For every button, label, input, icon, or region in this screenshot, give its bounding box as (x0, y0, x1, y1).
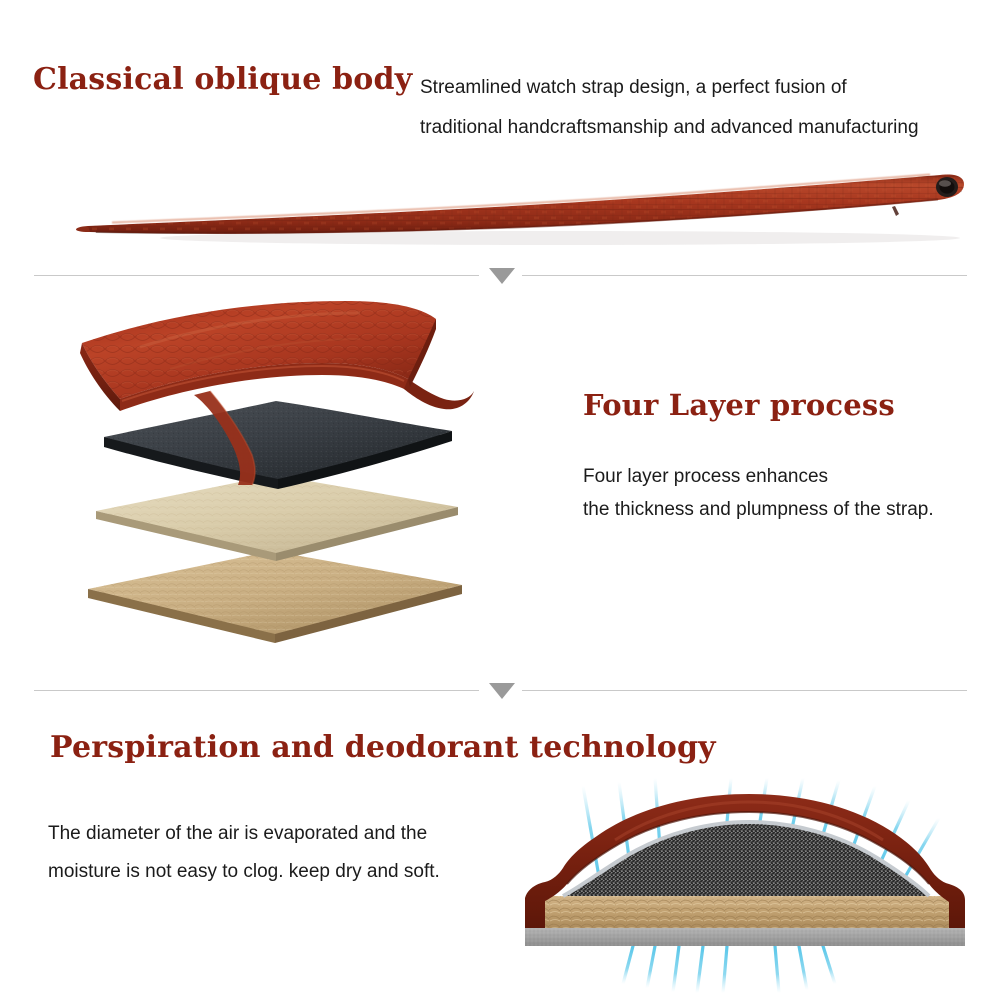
strap-cross-section-airflow-icon (505, 778, 985, 993)
section-3-paragraph: The diameter of the air is evaporated an… (48, 815, 498, 891)
divider-line-left (34, 275, 479, 276)
cross-section-base-layer (525, 928, 965, 946)
watch-strap-side-view-icon (40, 160, 970, 255)
section-2-paragraph-line-2: the thickness and plumpness of the strap… (583, 493, 993, 526)
divider-line-right (522, 690, 967, 691)
section-1-paragraph: Streamlined watch strap design, a perfec… (420, 68, 985, 148)
section-2-paragraph: Four layer process enhances the thicknes… (583, 460, 993, 526)
divider-2 (34, 677, 967, 703)
layer-2-black-foam (104, 401, 452, 489)
section-2-paragraph-line-1: Four layer process enhances (583, 460, 993, 493)
four-layer-exploded-image (60, 295, 490, 665)
section-1-paragraph-line-2: traditional handcraftsmanship and advanc… (420, 108, 985, 148)
section-1-title: Classical oblique body (33, 62, 412, 97)
divider-1 (34, 262, 967, 288)
airflow-lines-bottom (623, 946, 835, 993)
divider-line-left (34, 690, 479, 691)
section-2-title: Four Layer process (583, 388, 895, 422)
infographic-page: Classical oblique body Streamlined watch… (0, 0, 1001, 1001)
section-3-paragraph-line-1: The diameter of the air is evaporated an… (48, 815, 498, 853)
section-1-paragraph-line-1: Streamlined watch strap design, a perfec… (420, 68, 985, 108)
chevron-down-triangle-icon (489, 268, 515, 284)
four-layer-exploded-view-icon (60, 295, 490, 665)
divider-line-right (522, 275, 967, 276)
watch-strap-image (40, 160, 970, 255)
section-3-paragraph-line-2: moisture is not easy to clog. keep dry a… (48, 853, 498, 891)
cross-section-airflow-image (505, 778, 985, 993)
section-3-title: Perspiration and deodorant technology (50, 730, 716, 765)
cross-section-fibre-layer (527, 896, 963, 928)
layer-4-tan-fibre (88, 551, 462, 643)
chevron-down-triangle-icon (489, 683, 515, 699)
